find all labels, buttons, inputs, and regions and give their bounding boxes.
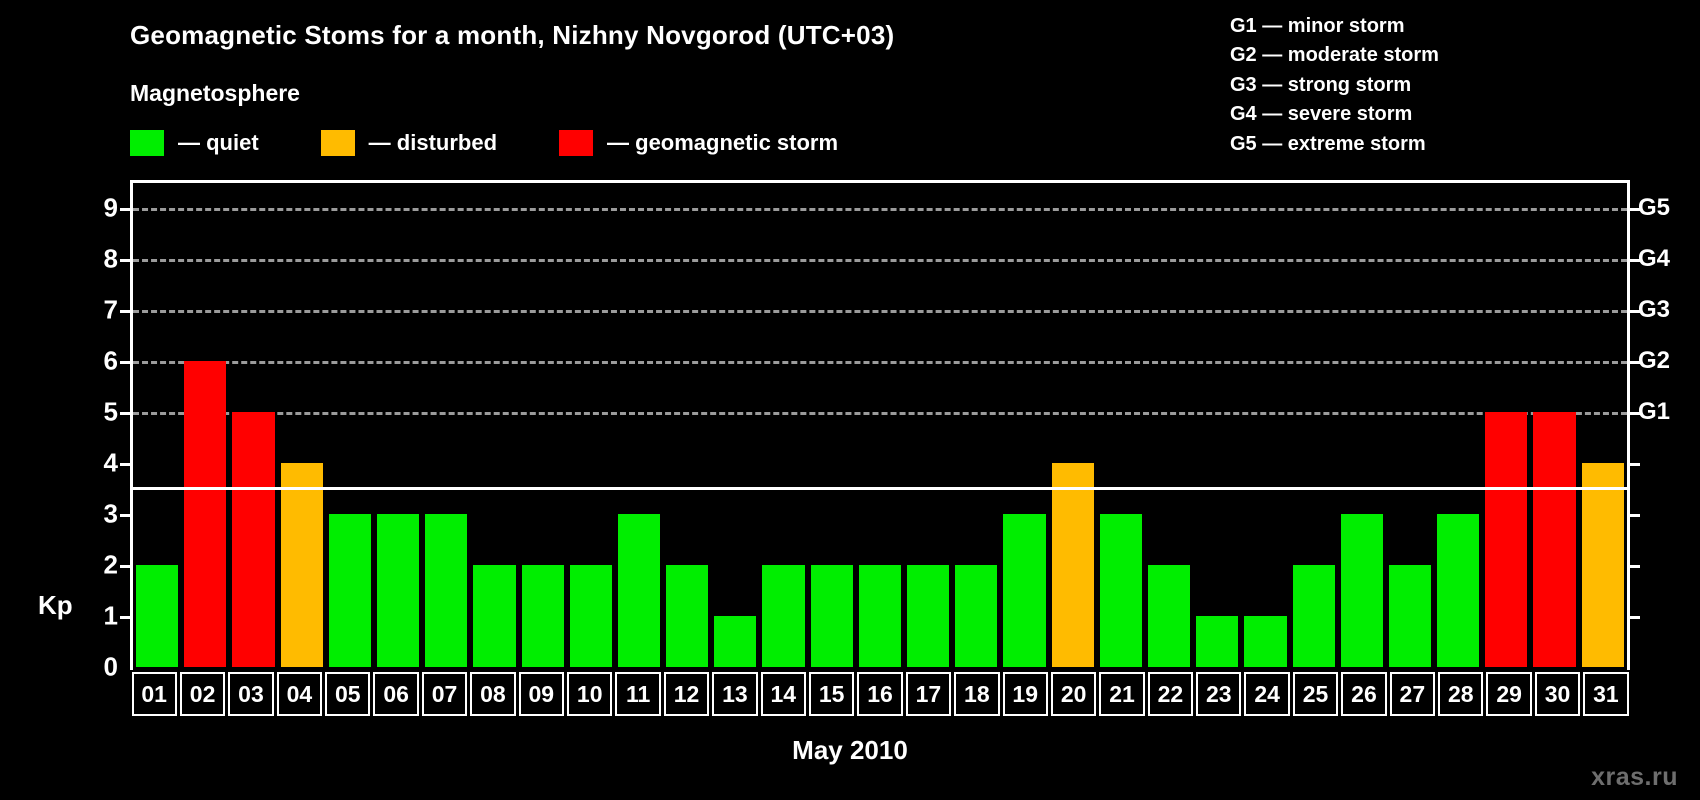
y-tickmark-5: [120, 412, 133, 415]
bar-day-09[interactable]: [522, 565, 564, 667]
bar-day-28[interactable]: [1437, 514, 1479, 667]
x-axis-day-labels: 0102030405060708091011121314151617181920…: [130, 672, 1630, 716]
bar-slot-day-25[interactable]: [1290, 183, 1338, 667]
day-label-15: 15: [809, 672, 854, 716]
legend-label-quiet: — quiet: [178, 130, 259, 156]
day-label-23: 23: [1196, 672, 1241, 716]
bar-slot-day-04[interactable]: [278, 183, 326, 667]
bar-day-15[interactable]: [811, 565, 853, 667]
bar-slot-day-10[interactable]: [567, 183, 615, 667]
bar-day-03[interactable]: [232, 412, 274, 667]
bar-slot-day-12[interactable]: [663, 183, 711, 667]
bar-day-25[interactable]: [1293, 565, 1335, 667]
gscale-row-3: G3 — strong storm: [1230, 71, 1439, 100]
y-tick-5: 5: [104, 397, 118, 428]
right-tickmark-2: [1627, 565, 1640, 568]
bar-day-12[interactable]: [666, 565, 708, 667]
day-label-14: 14: [761, 672, 806, 716]
bar-slot-day-16[interactable]: [856, 183, 904, 667]
right-tickmark-5: [1627, 412, 1640, 415]
bar-day-06[interactable]: [377, 514, 419, 667]
day-label-16: 16: [857, 672, 902, 716]
bar-day-22[interactable]: [1148, 565, 1190, 667]
day-label-21: 21: [1099, 672, 1144, 716]
bar-day-01[interactable]: [136, 565, 178, 667]
day-label-19: 19: [1003, 672, 1048, 716]
right-tick-G4: G4: [1638, 245, 1670, 273]
legend-swatch-disturbed: [321, 130, 355, 156]
day-label-11: 11: [615, 672, 660, 716]
x-axis-line: [130, 487, 1630, 490]
right-tickmark-6: [1627, 361, 1640, 364]
y-tick-9: 9: [104, 193, 118, 224]
bar-day-31[interactable]: [1582, 463, 1624, 667]
legend-label-geomagnetic-storm: — geomagnetic storm: [607, 130, 838, 156]
bar-slot-day-28[interactable]: [1434, 183, 1482, 667]
gscale-row-2: G2 — moderate storm: [1230, 41, 1439, 70]
day-label-20: 20: [1051, 672, 1096, 716]
bar-day-16[interactable]: [859, 565, 901, 667]
day-label-03: 03: [228, 672, 273, 716]
day-label-28: 28: [1438, 672, 1483, 716]
bar-slot-day-09[interactable]: [519, 183, 567, 667]
day-label-17: 17: [906, 672, 951, 716]
y-tick-4: 4: [104, 448, 118, 479]
day-label-02: 02: [180, 672, 225, 716]
bar-slot-day-31[interactable]: [1579, 183, 1627, 667]
day-label-22: 22: [1148, 672, 1193, 716]
bar-day-18[interactable]: [955, 565, 997, 667]
day-label-01: 01: [132, 672, 177, 716]
y-tick-8: 8: [104, 244, 118, 275]
bar-day-19[interactable]: [1003, 514, 1045, 667]
day-label-27: 27: [1390, 672, 1435, 716]
day-label-24: 24: [1244, 672, 1289, 716]
gscale-legend: G1 — minor stormG2 — moderate stormG3 — …: [1230, 12, 1439, 159]
right-tickmark-7: [1627, 310, 1640, 313]
y-tick-2: 2: [104, 550, 118, 581]
bar-day-14[interactable]: [762, 565, 804, 667]
bar-day-08[interactable]: [473, 565, 515, 667]
right-tick-G2: G2: [1638, 347, 1670, 375]
day-label-26: 26: [1341, 672, 1386, 716]
gscale-row-4: G4 — severe storm: [1230, 100, 1439, 129]
y-axis-ticks: 0123456789: [60, 180, 118, 670]
plot-area: Kp 0123456789 G1G2G3G4G5: [0, 180, 1700, 670]
bar-slot-day-29[interactable]: [1482, 183, 1530, 667]
day-label-08: 08: [470, 672, 515, 716]
legend-item-disturbed: — disturbed: [321, 130, 497, 156]
y-tick-6: 6: [104, 346, 118, 377]
bar-slot-day-11[interactable]: [615, 183, 663, 667]
right-tick-G3: G3: [1638, 296, 1670, 324]
y-tick-0: 0: [104, 652, 118, 683]
day-label-13: 13: [712, 672, 757, 716]
y-tick-7: 7: [104, 295, 118, 326]
bar-slot-day-17[interactable]: [904, 183, 952, 667]
right-axis-ticks: G1G2G3G4G5: [1638, 180, 1700, 670]
right-tickmark-1: [1627, 616, 1640, 619]
bar-day-04[interactable]: [281, 463, 323, 667]
bar-slot-day-22[interactable]: [1145, 183, 1193, 667]
bar-slot-day-21[interactable]: [1097, 183, 1145, 667]
bar-day-26[interactable]: [1341, 514, 1383, 667]
legend: — quiet— disturbed— geomagnetic storm: [130, 130, 900, 156]
y-tickmark-1: [120, 616, 133, 619]
bar-day-05[interactable]: [329, 514, 371, 667]
y-tick-1: 1: [104, 601, 118, 632]
day-label-29: 29: [1486, 672, 1531, 716]
day-label-05: 05: [325, 672, 370, 716]
y-tickmark-8: [120, 259, 133, 262]
legend-heading: Magnetosphere: [130, 80, 300, 107]
day-label-06: 06: [373, 672, 418, 716]
bar-day-29[interactable]: [1485, 412, 1527, 667]
right-tickmark-8: [1627, 259, 1640, 262]
y-tickmark-3: [120, 514, 133, 517]
day-label-31: 31: [1583, 672, 1628, 716]
bar-slot-day-20[interactable]: [1049, 183, 1097, 667]
bar-day-23[interactable]: [1196, 616, 1238, 667]
y-tickmark-9: [120, 208, 133, 211]
y-tickmark-2: [120, 565, 133, 568]
day-label-04: 04: [277, 672, 322, 716]
legend-item-geomagnetic-storm: — geomagnetic storm: [559, 130, 838, 156]
y-tickmark-4: [120, 463, 133, 466]
bar-slot-day-01[interactable]: [133, 183, 181, 667]
bar-slot-day-30[interactable]: [1530, 183, 1578, 667]
bar-slot-day-05[interactable]: [326, 183, 374, 667]
bar-slot-day-13[interactable]: [711, 183, 759, 667]
day-label-30: 30: [1535, 672, 1580, 716]
legend-item-quiet: — quiet: [130, 130, 259, 156]
bar-slot-day-19[interactable]: [1000, 183, 1048, 667]
gscale-row-1: G1 — minor storm: [1230, 12, 1439, 41]
page-title: Geomagnetic Stoms for a month, Nizhny No…: [130, 20, 894, 51]
y-tickmark-6: [120, 361, 133, 364]
right-tick-G1: G1: [1638, 398, 1670, 426]
chart-page: Geomagnetic Stoms for a month, Nizhny No…: [0, 0, 1700, 800]
bar-slot-day-24[interactable]: [1241, 183, 1289, 667]
bar-day-17[interactable]: [907, 565, 949, 667]
bar-day-13[interactable]: [714, 616, 756, 667]
watermark: xras.ru: [1591, 763, 1678, 792]
bar-day-30[interactable]: [1533, 412, 1575, 667]
day-label-12: 12: [664, 672, 709, 716]
bar-day-24[interactable]: [1244, 616, 1286, 667]
bar-slot-day-18[interactable]: [952, 183, 1000, 667]
bar-day-27[interactable]: [1389, 565, 1431, 667]
bar-day-20[interactable]: [1052, 463, 1094, 667]
bar-day-07[interactable]: [425, 514, 467, 667]
right-tickmark-3: [1627, 514, 1640, 517]
bar-series: [133, 183, 1627, 667]
bar-day-21[interactable]: [1100, 514, 1142, 667]
gscale-row-5: G5 — extreme storm: [1230, 130, 1439, 159]
x-axis-title: May 2010: [0, 735, 1700, 766]
bar-slot-day-14[interactable]: [759, 183, 807, 667]
right-tick-G5: G5: [1638, 194, 1670, 222]
day-label-25: 25: [1293, 672, 1338, 716]
bar-slot-day-26[interactable]: [1338, 183, 1386, 667]
right-tickmark-9: [1627, 208, 1640, 211]
right-tickmark-4: [1627, 463, 1640, 466]
bar-slot-day-15[interactable]: [808, 183, 856, 667]
y-tick-3: 3: [104, 499, 118, 530]
bar-slot-day-07[interactable]: [422, 183, 470, 667]
day-label-10: 10: [567, 672, 612, 716]
y-tickmark-7: [120, 310, 133, 313]
bar-slot-day-03[interactable]: [229, 183, 277, 667]
day-label-18: 18: [954, 672, 999, 716]
bar-day-10[interactable]: [570, 565, 612, 667]
bar-day-11[interactable]: [618, 514, 660, 667]
bar-slot-day-06[interactable]: [374, 183, 422, 667]
bar-slot-day-23[interactable]: [1193, 183, 1241, 667]
bar-day-02[interactable]: [184, 361, 226, 667]
bar-slot-day-27[interactable]: [1386, 183, 1434, 667]
legend-label-disturbed: — disturbed: [369, 130, 497, 156]
day-label-07: 07: [422, 672, 467, 716]
legend-swatch-geomagnetic-storm: [559, 130, 593, 156]
legend-swatch-quiet: [130, 130, 164, 156]
bar-slot-day-08[interactable]: [470, 183, 518, 667]
bar-slot-day-02[interactable]: [181, 183, 229, 667]
day-label-09: 09: [519, 672, 564, 716]
